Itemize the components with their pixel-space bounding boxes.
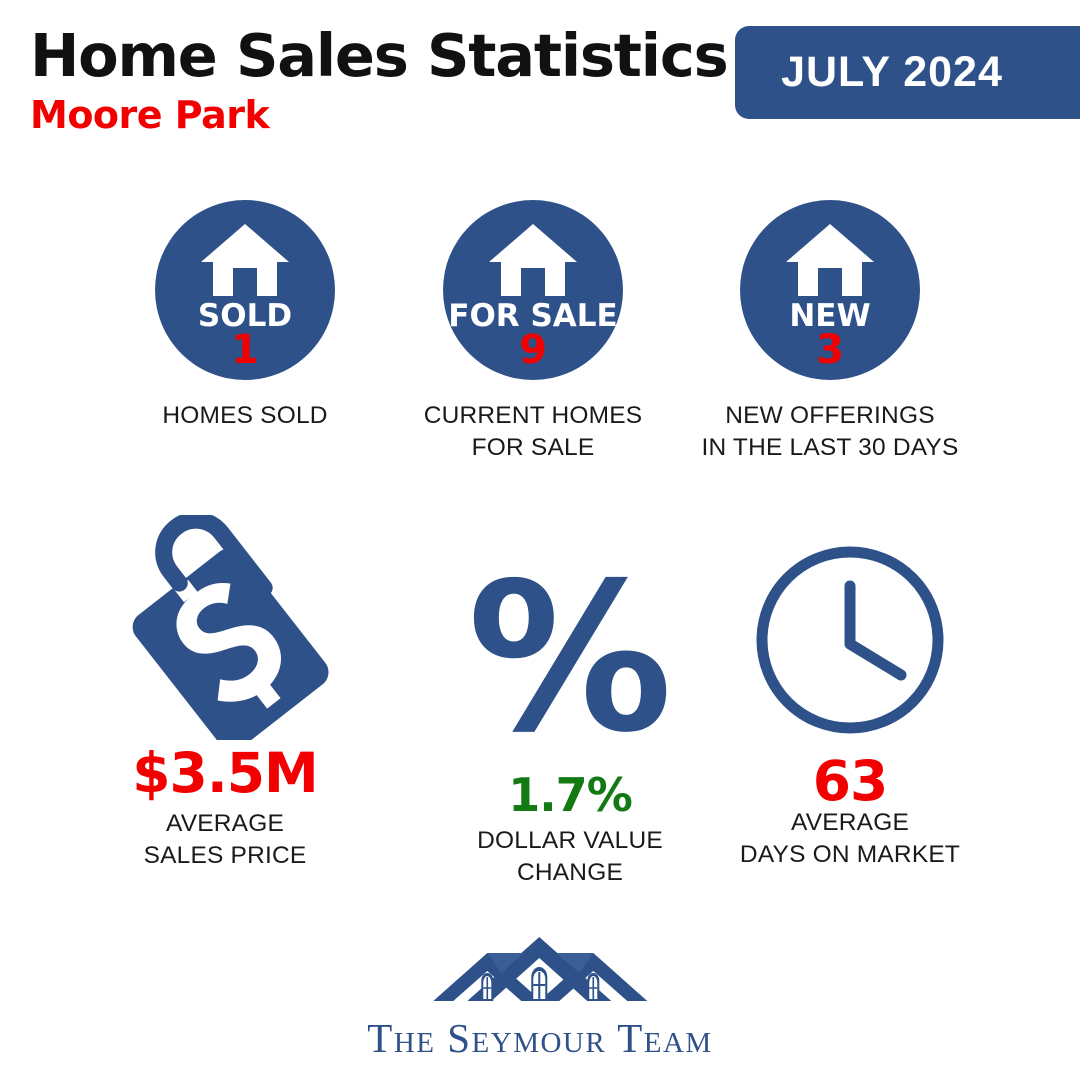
icon-wrap (55, 510, 395, 740)
circle-stat-for-sale: FOR SALE 9 CURRENT HOMES FOR SALE (403, 200, 663, 465)
badge-number: 9 (519, 330, 547, 370)
stat-value: 63 (680, 754, 1020, 809)
badge-number: 1 (231, 330, 259, 370)
caption-line-1: CURRENT HOMES (403, 400, 663, 432)
three-rooflines-icon (415, 925, 665, 1005)
caption-line-2: SALES PRICE (55, 840, 395, 872)
date-badge-label: JULY 2024 (781, 48, 1049, 97)
caption-line-1: AVERAGE (55, 808, 395, 840)
stat-caption: AVERAGE DAYS ON MARKET (680, 807, 1020, 871)
house-icon (784, 222, 876, 302)
caption-line-2: DAYS ON MARKET (680, 839, 1020, 871)
caption-line-1: AVERAGE (680, 807, 1020, 839)
circle-badge: NEW 3 (740, 200, 920, 380)
brand-logo: The Seymour Team (367, 925, 712, 1062)
big-stat-days-on-market: 63 AVERAGE DAYS ON MARKET (680, 510, 1020, 871)
big-stat-average-sales-price: $3.5M AVERAGE SALES PRICE (55, 510, 395, 872)
icon-wrap (680, 510, 1020, 740)
circle-stat-new-offerings: NEW 3 NEW OFFERINGS IN THE LAST 30 DAYS (700, 200, 960, 465)
page-subtitle: Moore Park (30, 96, 728, 134)
caption-line-2: FOR SALE (403, 432, 663, 464)
price-tag-dollar-icon (100, 515, 350, 740)
header: Home Sales Statistics Moore Park JULY 20… (0, 0, 1080, 160)
circle-badge: FOR SALE 9 (443, 200, 623, 380)
stat-caption: AVERAGE SALES PRICE (55, 808, 395, 872)
date-badge: JULY 2024 (735, 26, 1080, 119)
caption-line-2: IN THE LAST 30 DAYS (700, 432, 960, 464)
badge-number: 3 (816, 330, 844, 370)
circle-stat-homes-sold: SOLD 1 HOMES SOLD (115, 200, 375, 432)
clock-icon (750, 540, 950, 740)
stat-value: $3.5M (55, 746, 395, 801)
brand-logo-text: The Seymour Team (367, 1014, 712, 1062)
circle-badge: SOLD 1 (155, 200, 335, 380)
circle-caption: NEW OFFERINGS IN THE LAST 30 DAYS (700, 400, 960, 465)
caption-line-1: NEW OFFERINGS (700, 400, 960, 432)
caption-line-1: HOMES SOLD (115, 400, 375, 432)
percent-icon: % (467, 580, 672, 740)
circle-caption: CURRENT HOMES FOR SALE (403, 400, 663, 465)
circle-caption: HOMES SOLD (115, 400, 375, 432)
house-icon (199, 222, 291, 302)
page-title: Home Sales Statistics (30, 26, 728, 85)
title-block: Home Sales Statistics Moore Park (30, 26, 728, 134)
house-icon (487, 222, 579, 302)
infographic-page: Home Sales Statistics Moore Park JULY 20… (0, 0, 1080, 1080)
